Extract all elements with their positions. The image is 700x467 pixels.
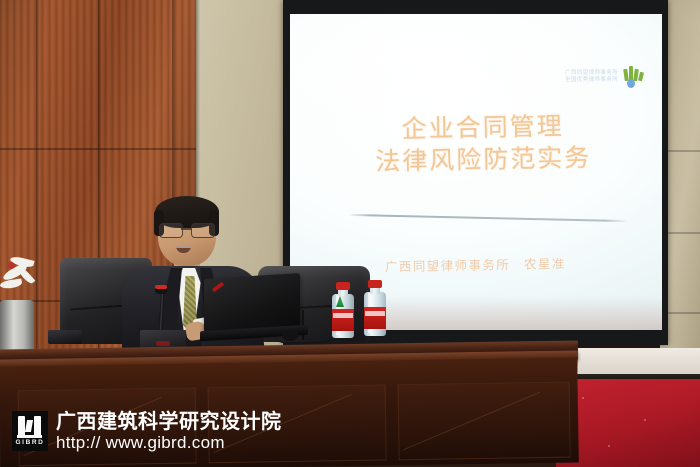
microphone-indicator [155,285,167,289]
watermark: GIBRD 广西建筑科学研究设计院 http:// www.gibrd.com [12,411,282,451]
wall-base [560,348,700,376]
water-bottle [330,282,356,338]
desk-device [48,330,82,344]
slide-logo-line-1: 广西同望律师事务所 [565,70,618,78]
water-bottle [362,280,388,336]
slide-corner-logo: 广西同望律师事务所 全国优秀律师事务所 [565,66,645,88]
gibrd-logo-icon: GIBRD [12,411,48,451]
laptop [204,276,300,338]
slide-logo-text: 广西同望律师事务所 全国优秀律师事务所 [565,70,618,85]
watermark-url: http:// www.gibrd.com [56,434,282,451]
slide-divider-rule [348,214,628,222]
slide-logo-mark-icon [623,66,645,88]
cable-connector [282,330,298,341]
microphone-button [156,341,170,346]
watermark-org-name: 广西建筑科学研究设计院 [56,412,282,432]
watermark-logo-text: GIBRD [16,439,45,447]
eyeglasses-icon [158,223,216,237]
slide-title-line-2: 法律风险防范实务 [338,141,629,179]
desk-panel [398,382,571,461]
slide-title: 企业合同管理 法律风险防范实务 [337,109,628,179]
conference-photo: 广西同望律师事务所 全国优秀律师事务所 企业合同管理 法律风险防范实务 广西同望… [0,0,700,467]
wood-seam [0,148,196,150]
slide-logo-line-2: 全国优秀律师事务所 [565,77,618,85]
bottle-cap [368,280,382,288]
flower-center [8,262,15,269]
bottle-cap [336,282,350,290]
slide-subtitle: 广西同望律师事务所 农星准 [385,252,635,275]
